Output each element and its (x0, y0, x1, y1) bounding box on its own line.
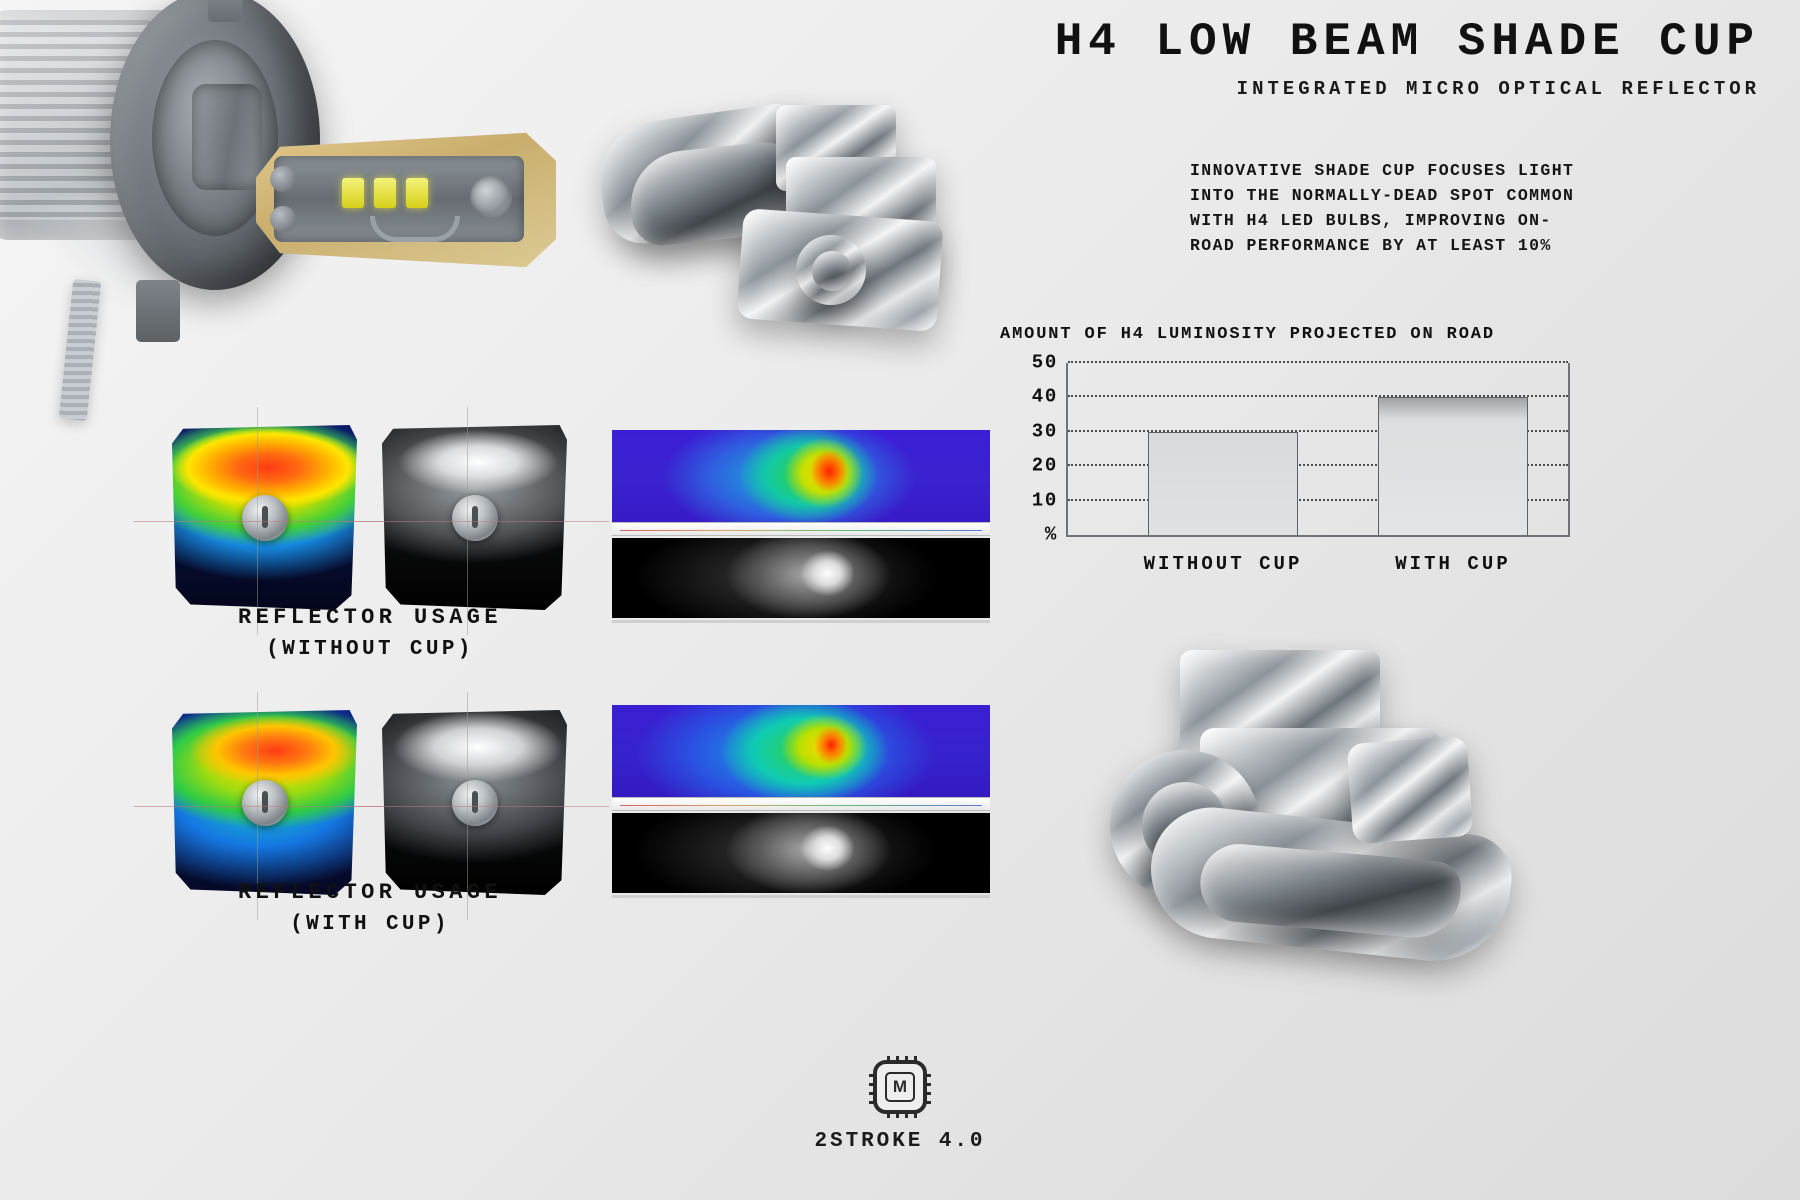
caption-with-cup-line1: REFLECTOR USAGE (140, 880, 600, 905)
logo-chip-icon: M (873, 1060, 927, 1114)
bulb-mount-tab-bottom (136, 280, 180, 342)
bulb-mount-tab-top (208, 0, 242, 22)
beam-photometric-with-cup (612, 813, 990, 893)
reflector-thermal-with-cup (172, 710, 357, 895)
ytick-label-10: 10 (1032, 489, 1058, 511)
ytick-label-30: 30 (1032, 420, 1058, 442)
beam-isocandela-with-cup (612, 705, 990, 805)
caption-with-cup-line2: (WITH CUP) (140, 913, 600, 936)
reflector-bulb-cap-c (242, 780, 288, 826)
axis-marker-h-b (344, 521, 609, 522)
bulb-wire (59, 279, 101, 421)
caption-without-cup: REFLECTOR USAGE (WITHOUT CUP) (140, 605, 600, 661)
axis-marker-h-d (344, 806, 609, 807)
logo-letter: M (885, 1072, 915, 1102)
bulb-screw-2 (270, 206, 296, 232)
footer-branding: M 2STROKE 4.0 (0, 1060, 1800, 1153)
led-chip-3 (406, 178, 428, 208)
beam-photometric-without-cup (612, 538, 990, 618)
chart-plot-area: 50 40 30 20 10 % WITHOUT CUP WITH CUP (1066, 363, 1570, 537)
isocandela-plot-b (612, 705, 990, 805)
gridline-50: 50 (1068, 361, 1568, 363)
bar-label-with-cup: WITH CUP (1395, 553, 1511, 575)
reflector-thermal-without-cup (172, 425, 357, 610)
luminosity-bar-chart: AMOUNT OF H4 LUMINOSITY PROJECTED ON ROA… (1000, 325, 1570, 595)
beam-scale-bar-b (612, 797, 990, 811)
bar-with-cup: WITH CUP (1378, 397, 1528, 535)
beam-isocandela-without-cup (612, 430, 990, 530)
shade-cup-ring (470, 176, 512, 218)
bulb-screw-1 (270, 166, 296, 192)
caption-without-cup-line2: (WITHOUT CUP) (140, 638, 600, 661)
shade-cup-render-top (590, 95, 990, 355)
ytick-label-20: 20 (1032, 455, 1058, 477)
caption-with-cup: REFLECTOR USAGE (WITH CUP) (140, 880, 600, 936)
chart-title: AMOUNT OF H4 LUMINOSITY PROJECTED ON ROA… (1000, 325, 1570, 344)
caption-without-cup-line1: REFLECTOR USAGE (140, 605, 600, 630)
cup-bore-inner (812, 251, 852, 291)
axis-marker-v-a (257, 407, 258, 635)
led-chip-2 (374, 178, 396, 208)
shade-cup-render-bottom (1090, 640, 1690, 970)
reflector-bulb-cap-a (242, 495, 288, 541)
beam-scale-bar-a (612, 522, 990, 536)
bulb-hub (192, 84, 262, 190)
bar-without-cup: WITHOUT CUP (1148, 432, 1298, 535)
h4-bulb-render (0, 0, 610, 400)
reflector-bulb-cap-d (452, 780, 498, 826)
ytick-label-percent: % (1045, 524, 1058, 546)
ytick-label-50: 50 (1032, 352, 1058, 374)
page-subtitle: INTEGRATED MICRO OPTICAL REFLECTOR (860, 78, 1760, 100)
ytick-label-40: 40 (1032, 386, 1058, 408)
reflector-gray-with-cup (382, 710, 567, 895)
axis-marker-v-b (467, 407, 468, 635)
product-description: INNOVATIVE SHADE CUP FOCUSES LIGHT INTO … (1190, 158, 1580, 258)
page-title: H4 LOW BEAM SHADE CUP (860, 18, 1760, 66)
isocandela-plot-a (612, 430, 990, 530)
beam-footer-rule-a (612, 620, 990, 623)
product-name: 2STROKE 4.0 (0, 1130, 1800, 1153)
bar-label-without-cup: WITHOUT CUP (1144, 553, 1303, 575)
reflector-gray-without-cup (382, 425, 567, 610)
cup-side-wing (1347, 736, 1474, 844)
shade-cup-loop (370, 216, 460, 242)
led-chip-1 (342, 178, 364, 208)
reflector-bulb-cap-b (452, 495, 498, 541)
beam-footer-rule-b (612, 895, 990, 898)
